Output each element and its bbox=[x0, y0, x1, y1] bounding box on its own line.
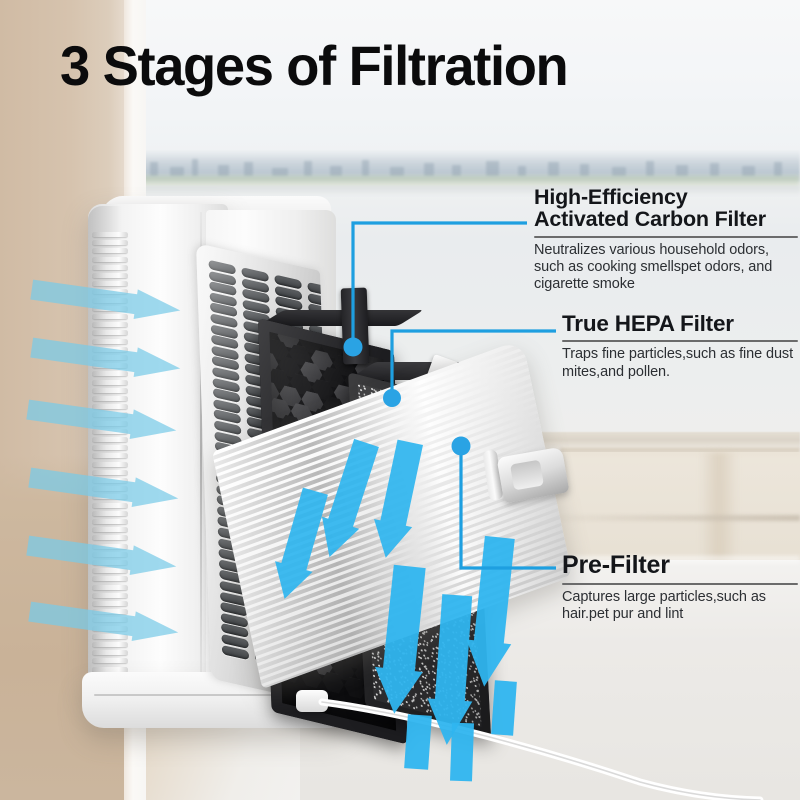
louver-slat bbox=[92, 634, 128, 639]
louver-slat bbox=[92, 609, 128, 614]
infographic-canvas: 3 Stages of Filtration High-Efficiency A… bbox=[0, 0, 800, 800]
callout-activated-carbon: High-Efficiency Activated Carbon Filter … bbox=[534, 186, 798, 293]
louver-slat bbox=[92, 650, 128, 655]
louver-slat bbox=[92, 527, 128, 532]
skyline-building bbox=[244, 162, 253, 176]
skyline-building bbox=[304, 161, 312, 176]
louver-slat bbox=[92, 289, 128, 294]
louver-slat bbox=[92, 421, 128, 426]
skyline-building bbox=[518, 166, 526, 176]
callout-body-hepa: Traps fine particles,such as fine dust m… bbox=[562, 346, 798, 381]
louver-slat bbox=[92, 658, 128, 663]
louver-slat bbox=[92, 478, 128, 483]
callout-true-hepa: True HEPA Filter Traps fine particles,su… bbox=[562, 312, 798, 381]
skyline-building bbox=[486, 161, 499, 176]
louver-slat bbox=[92, 445, 128, 450]
louver-slat bbox=[92, 601, 128, 606]
louver-slat bbox=[92, 593, 128, 598]
skyline-building bbox=[742, 166, 755, 176]
skyline-building bbox=[390, 167, 404, 176]
louver-slat bbox=[92, 503, 128, 508]
louver-slat bbox=[92, 347, 128, 352]
louver-slat bbox=[92, 568, 128, 573]
exhaust-louvers bbox=[92, 232, 128, 690]
louver-slat bbox=[92, 453, 128, 458]
louver-slat bbox=[92, 462, 128, 467]
louver-slat bbox=[92, 404, 128, 409]
callout-rule-hepa bbox=[562, 340, 798, 342]
louver-slat bbox=[92, 642, 128, 647]
louver-slat bbox=[92, 494, 128, 499]
louver-slat bbox=[92, 585, 128, 590]
louver-slat bbox=[92, 257, 128, 262]
callout-title-carbon-line2: Activated Carbon Filter bbox=[534, 208, 798, 230]
louver-slat bbox=[92, 552, 128, 557]
louver-slat bbox=[92, 560, 128, 565]
louver-slat bbox=[92, 470, 128, 475]
louver-slat bbox=[92, 388, 128, 393]
louver-slat bbox=[92, 298, 128, 303]
louver-slat bbox=[92, 380, 128, 385]
louver-slat bbox=[92, 322, 128, 327]
louver-slat bbox=[92, 511, 128, 516]
skyline-building bbox=[192, 159, 198, 176]
panel-handle-recess bbox=[510, 460, 544, 491]
skyline-building bbox=[218, 165, 229, 176]
louver-slat bbox=[92, 314, 128, 319]
skyline-building bbox=[150, 162, 158, 176]
skyline-building bbox=[170, 167, 184, 176]
louver-slat bbox=[92, 617, 128, 622]
louver-slat bbox=[92, 306, 128, 311]
callout-title-carbon-line1: High-Efficiency bbox=[534, 186, 798, 208]
callout-rule-carbon bbox=[534, 236, 798, 238]
louver-slat bbox=[92, 626, 128, 631]
louver-slat bbox=[92, 429, 128, 434]
skyline-building bbox=[362, 160, 369, 176]
louver-slat bbox=[92, 240, 128, 245]
skyline-building bbox=[612, 167, 626, 176]
louver-slat bbox=[92, 339, 128, 344]
skyline-building bbox=[272, 168, 288, 176]
louver-slat bbox=[92, 396, 128, 401]
louver-slat bbox=[92, 519, 128, 524]
louver-slat bbox=[92, 412, 128, 417]
skyline-building bbox=[646, 161, 654, 176]
page-title: 3 Stages of Filtration bbox=[60, 36, 739, 98]
louver-slat bbox=[92, 437, 128, 442]
louver-slat bbox=[92, 544, 128, 549]
callout-body-carbon: Neutralizes various household odors, suc… bbox=[534, 242, 798, 294]
louver-slat bbox=[92, 330, 128, 335]
callout-title-hepa: True HEPA Filter bbox=[562, 312, 798, 335]
louver-slat bbox=[92, 576, 128, 581]
floor-seam bbox=[560, 515, 800, 521]
callout-pre-filter: Pre-Filter Captures large particles,such… bbox=[562, 552, 798, 624]
louver-slat bbox=[92, 273, 128, 278]
louver-slat bbox=[92, 535, 128, 540]
louver-slat bbox=[92, 265, 128, 270]
louver-slat bbox=[92, 363, 128, 368]
louver-slat bbox=[92, 248, 128, 253]
louver-slat bbox=[92, 355, 128, 360]
louver-slat bbox=[92, 667, 128, 672]
skyline-building bbox=[580, 164, 589, 176]
louver-slat bbox=[92, 232, 128, 237]
carbon-filter-pull-tab bbox=[341, 288, 370, 365]
louver-slat bbox=[92, 486, 128, 491]
skyline-building bbox=[548, 162, 559, 176]
power-cord-plug bbox=[296, 690, 328, 712]
skyline-building bbox=[452, 165, 461, 176]
callout-rule-prefilter bbox=[562, 583, 798, 585]
skyline-building bbox=[424, 163, 434, 176]
louver-slat bbox=[92, 371, 128, 376]
skyline-building bbox=[710, 163, 719, 176]
callout-body-prefilter: Captures large particles,such as hair.pe… bbox=[562, 589, 798, 624]
skyline-building bbox=[676, 165, 688, 176]
skyline-building bbox=[330, 166, 342, 176]
skyline-building bbox=[774, 162, 782, 176]
callout-title-prefilter: Pre-Filter bbox=[562, 552, 798, 578]
louver-slat bbox=[92, 281, 128, 286]
